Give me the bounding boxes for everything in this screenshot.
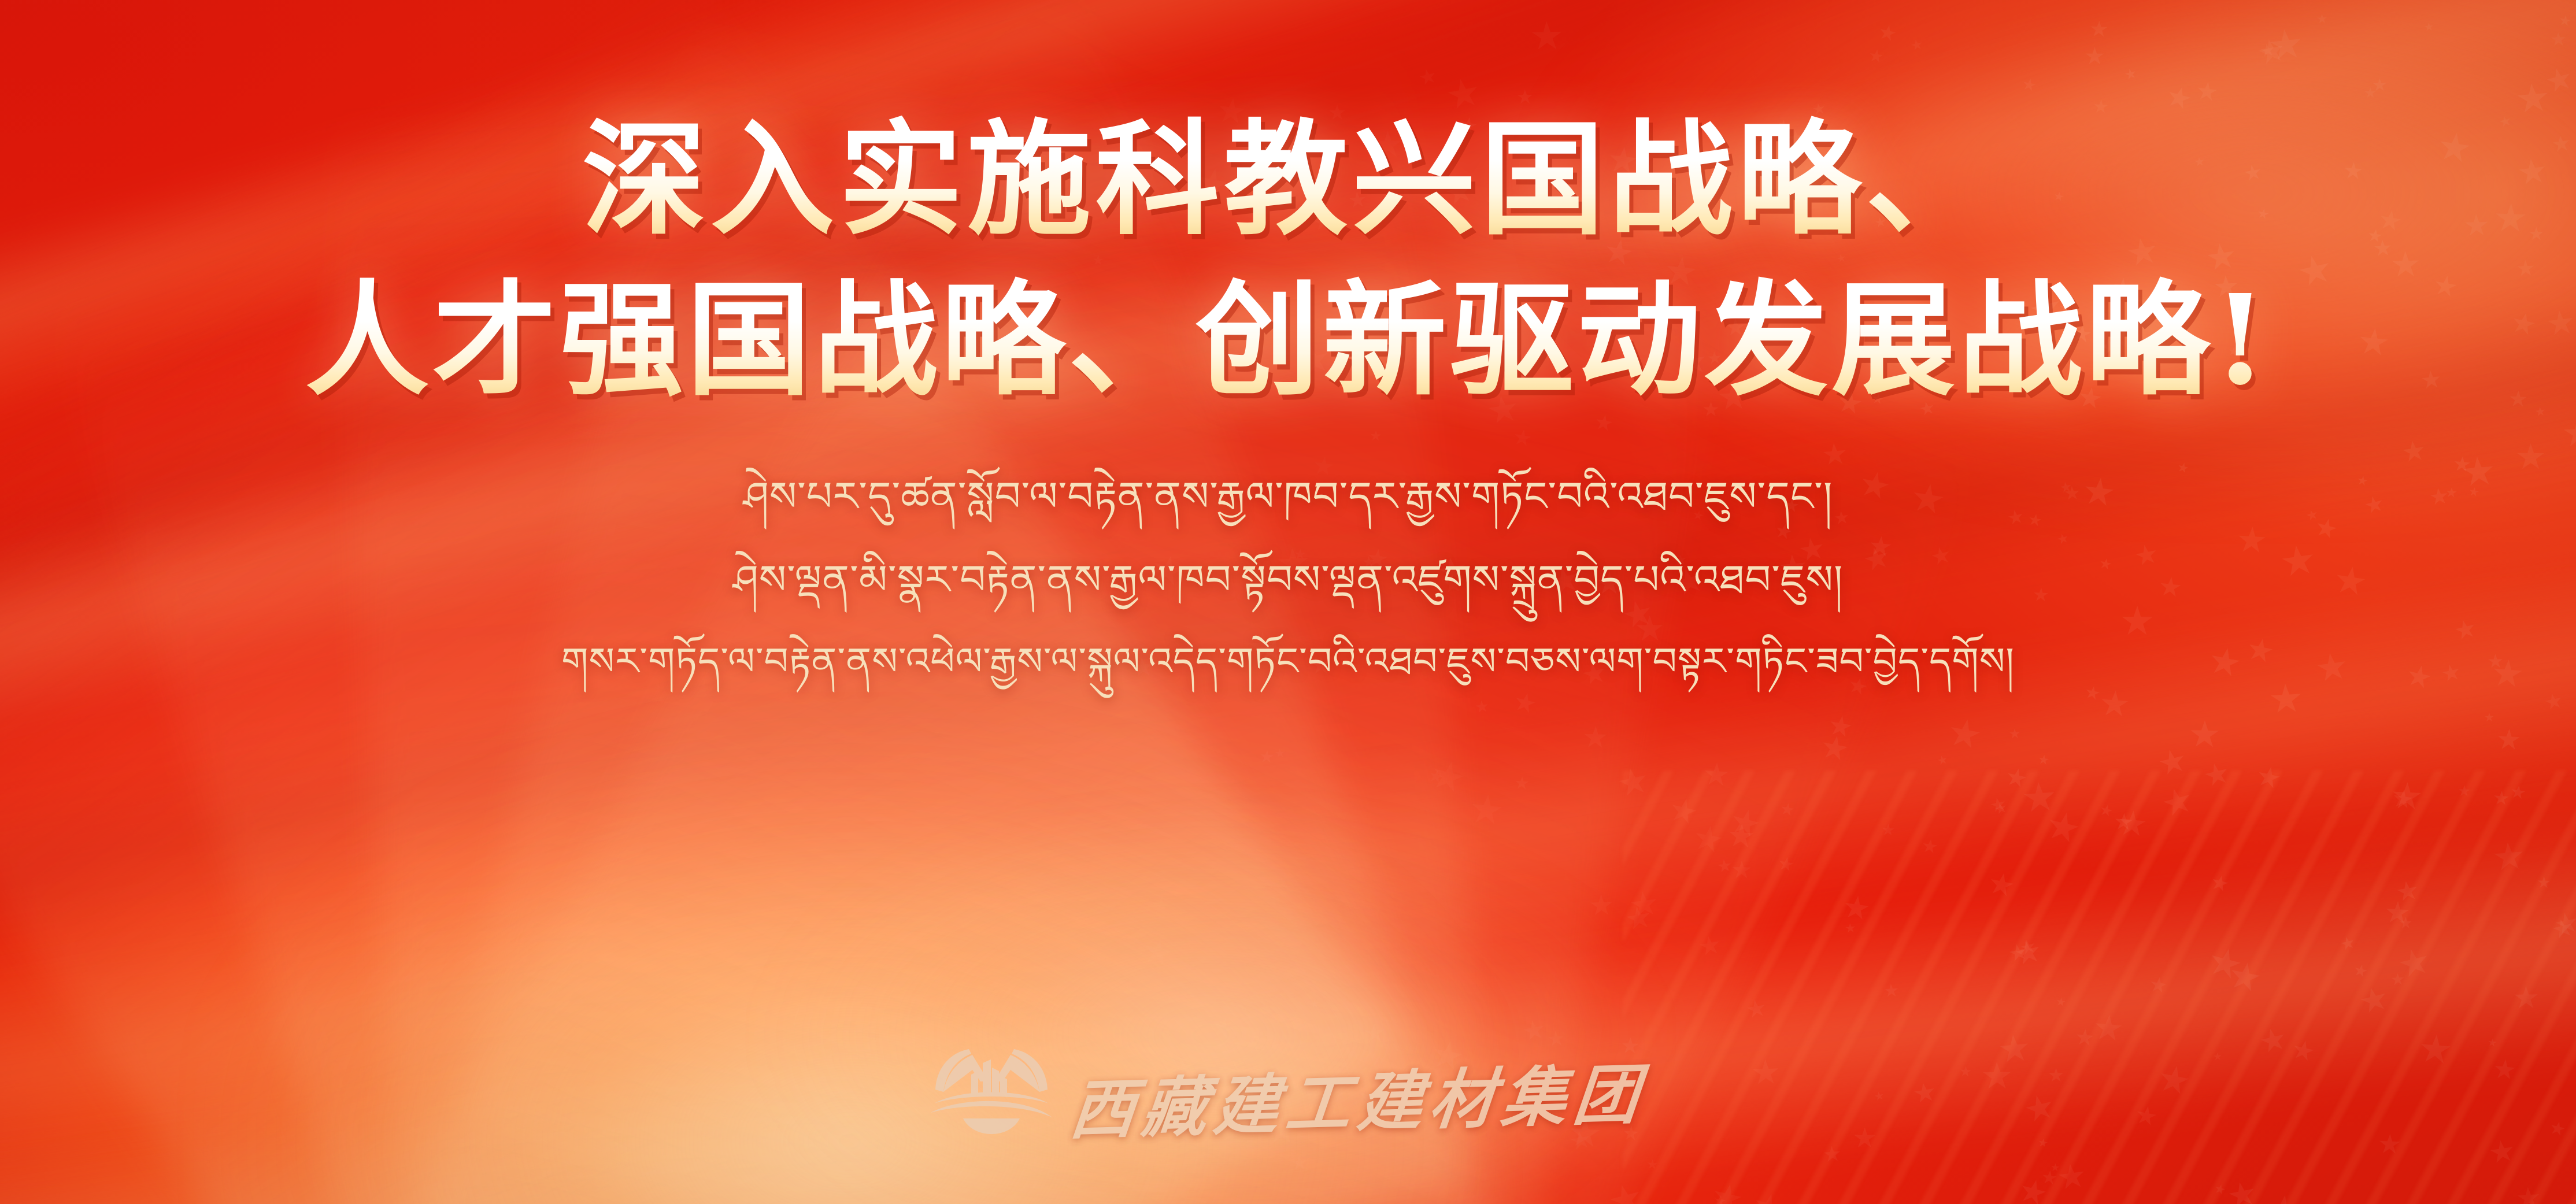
headline-block: 深入实施科教兴国战略、 人才强国战略、创新驱动发展战略! bbox=[0, 99, 2576, 421]
tibetan-line-2: ཤེས་ལྡན་མི་སྣར་བརྟེན་ནས་རྒྱལ་ཁབ་སྟོབས་ལྡ… bbox=[0, 560, 2576, 600]
tibetan-line-1: ཤེས་པར་དུ་ཚན་སློབ་ལ་བརྟེན་ནས་རྒྱལ་ཁབ་དར་… bbox=[0, 476, 2576, 517]
headline-line-2: 人才强国战略、创新驱动发展战略! bbox=[0, 260, 2576, 421]
tibetan-line-3: གསར་གཏོད་ལ་བརྟེན་ནས་འཕེལ་རྒྱས་ལ་སྐུལ་འདེ… bbox=[0, 643, 2576, 681]
banner-canvas: ★★★★★★★★★★★★★★★★★★★★★★★★★★★★★★★★★★★★★★★★… bbox=[0, 0, 2576, 1204]
banner-content: 深入实施科教兴国战略、 人才强国战略、创新驱动发展战略! ཤེས་པར་དུ་ཚ… bbox=[0, 0, 2576, 1204]
headline-line-1: 深入实施科教兴国战略、 bbox=[0, 99, 2576, 260]
company-logo: 西藏建工建材集团 bbox=[931, 1048, 1645, 1146]
mountain-building-emblem-icon bbox=[931, 1048, 1052, 1146]
tibetan-block: ཤེས་པར་དུ་ཚན་སློབ་ལ་བརྟེན་ནས་རྒྱལ་ཁབ་དར་… bbox=[0, 476, 2576, 681]
company-wordmark: 西藏建工建材集团 bbox=[1067, 1042, 1650, 1152]
